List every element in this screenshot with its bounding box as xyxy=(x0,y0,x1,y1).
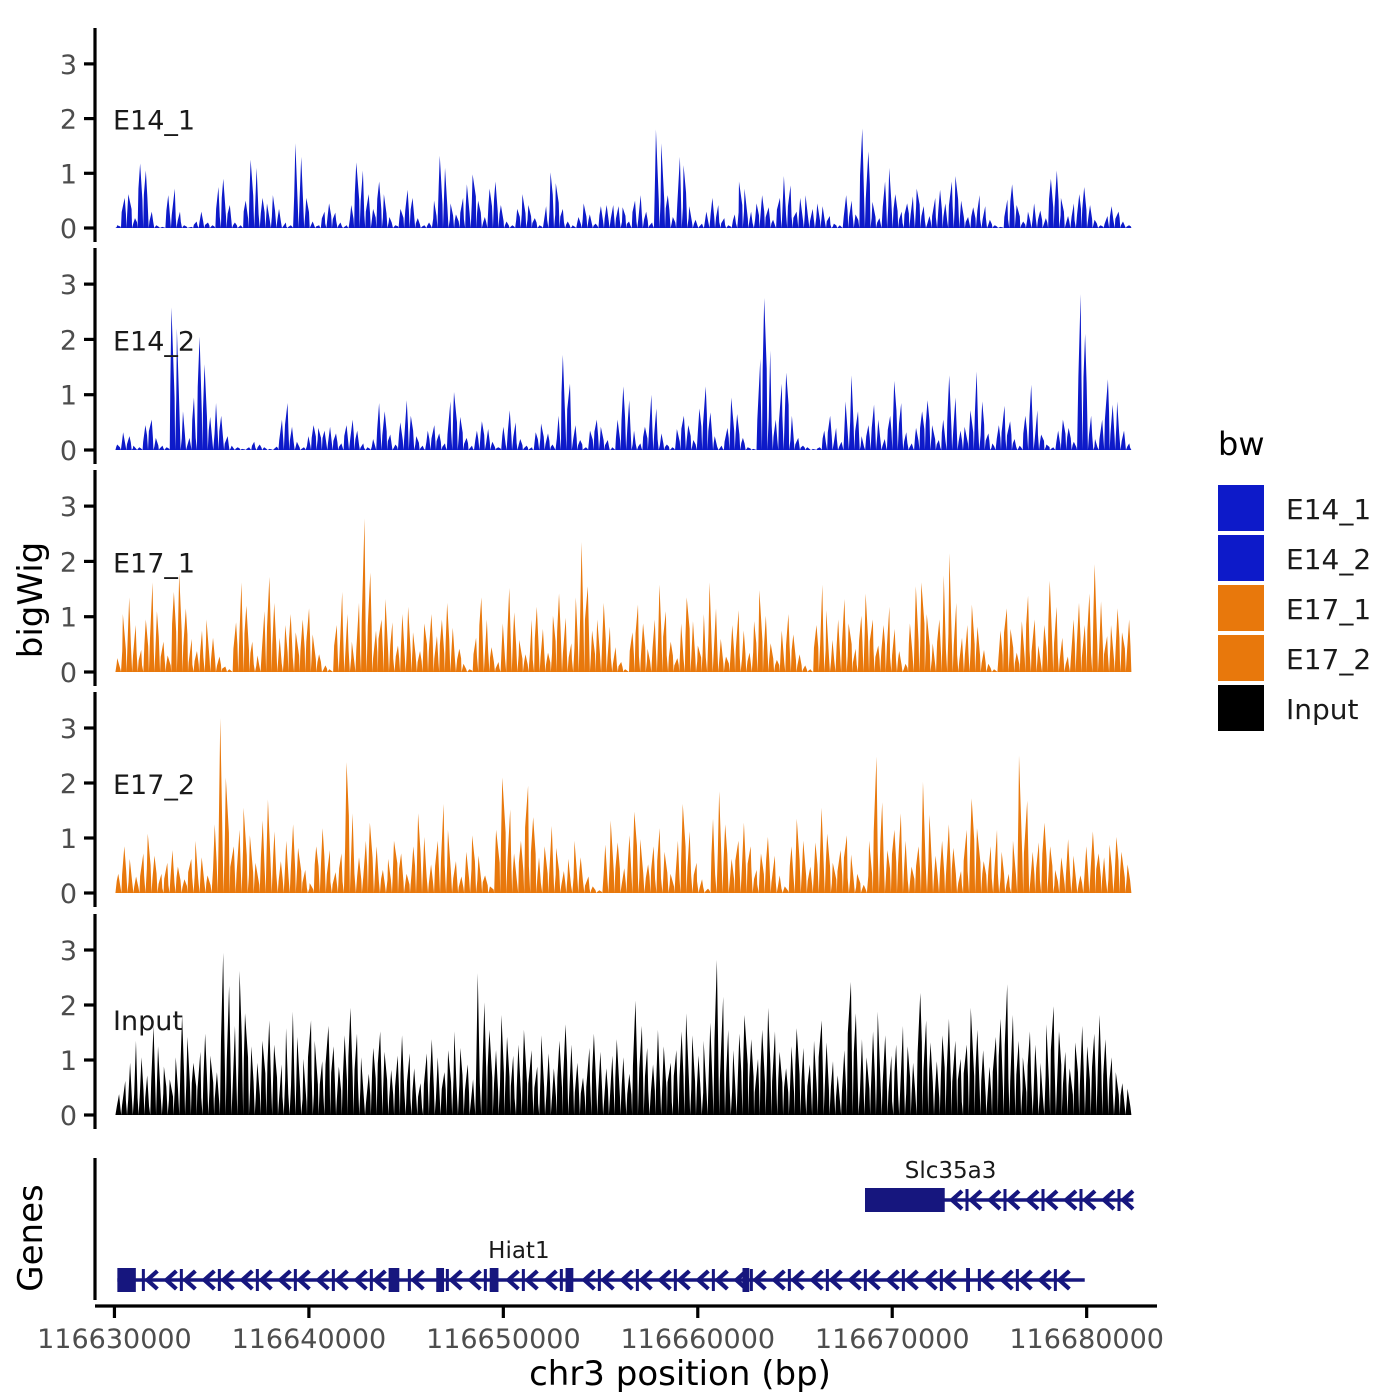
y-tick-label: 3 xyxy=(60,270,77,301)
genome-browser-figure: bigWig Genes 0123E14_10123E14_20123E17_1… xyxy=(0,0,1400,1400)
panel-label-e14_2: E14_2 xyxy=(113,326,195,357)
legend-swatch xyxy=(1218,585,1264,631)
x-tick-label: 116680000 xyxy=(1009,1324,1164,1355)
panel-label-e17_2: E17_2 xyxy=(113,770,195,801)
x-tick-label: 116630000 xyxy=(37,1324,192,1355)
y-tick-label: 2 xyxy=(60,991,77,1022)
legend-label: Input xyxy=(1286,693,1359,726)
y-tick-label: 0 xyxy=(60,214,77,245)
gene-exon xyxy=(436,1268,444,1292)
y-tick-label: 0 xyxy=(60,436,77,467)
gene-exon xyxy=(566,1268,574,1292)
x-tick-label: 116640000 xyxy=(232,1324,387,1355)
x-tick-label: 116660000 xyxy=(620,1324,775,1355)
y-tick-label: 2 xyxy=(60,105,77,136)
gene-exon xyxy=(865,1188,945,1212)
gene-exon xyxy=(490,1268,499,1292)
y-tick-label: 2 xyxy=(60,325,77,356)
legend-label: E17_1 xyxy=(1286,593,1371,626)
legend-swatch xyxy=(1218,485,1264,531)
y-tick-label: 0 xyxy=(60,879,77,910)
y-tick-label: 1 xyxy=(60,159,77,190)
x-axis-title: chr3 position (bp) xyxy=(529,1354,831,1394)
gene-label: Slc35a3 xyxy=(905,1158,997,1184)
y-tick-label: 0 xyxy=(60,1101,77,1132)
legend-swatch xyxy=(1218,635,1264,681)
gene-label: Hiat1 xyxy=(488,1238,549,1264)
y-tick-label: 2 xyxy=(60,769,77,800)
panel-label-e17_1: E17_1 xyxy=(113,548,195,579)
legend-swatch xyxy=(1218,685,1264,731)
y-tick-label: 0 xyxy=(60,658,77,689)
figure-svg: bigWig Genes 0123E14_10123E14_20123E17_1… xyxy=(0,0,1400,1400)
panel-label-input: Input xyxy=(113,1006,183,1037)
legend-label: E14_2 xyxy=(1286,543,1371,576)
y-tick-label: 1 xyxy=(60,824,77,855)
legend-title: bw xyxy=(1218,425,1264,463)
y-tick-label: 1 xyxy=(60,381,77,412)
y-tick-label: 1 xyxy=(60,603,77,634)
y-tick-label: 3 xyxy=(60,492,77,523)
legend-label: E17_2 xyxy=(1286,643,1371,676)
y-tick-label: 2 xyxy=(60,547,77,578)
panel-label-e14_1: E14_1 xyxy=(113,105,195,136)
y-tick-label: 1 xyxy=(60,1046,77,1077)
gene-exon xyxy=(389,1268,400,1292)
legend-swatch xyxy=(1218,535,1264,581)
y-tick-label: 3 xyxy=(60,936,77,967)
y-axis-title: bigWig xyxy=(11,542,51,659)
y-axis-title-group: bigWig xyxy=(11,542,51,659)
genes-axis-title-group: Genes xyxy=(11,1184,51,1291)
genes-axis-title: Genes xyxy=(11,1184,51,1291)
gene-exon xyxy=(117,1268,135,1292)
figure-background xyxy=(0,0,1400,1400)
y-tick-label: 3 xyxy=(60,714,77,745)
legend-label: E14_1 xyxy=(1286,493,1371,526)
y-tick-label: 3 xyxy=(60,50,77,81)
x-tick-label: 116670000 xyxy=(815,1324,970,1355)
x-tick-label: 116650000 xyxy=(426,1324,581,1355)
gene-exon xyxy=(966,1268,970,1292)
